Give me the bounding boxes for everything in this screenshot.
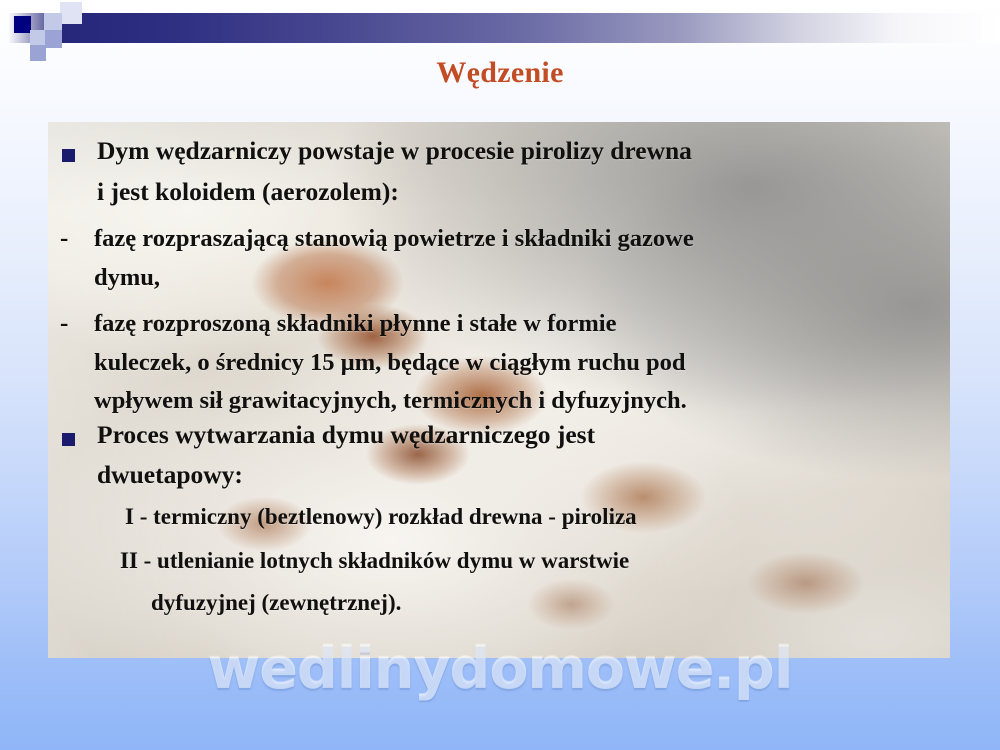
bullet-square-icon-2 (62, 433, 75, 446)
body-line-2: i jest koloidem (aerozolem): (97, 177, 399, 207)
bullet-square-icon-1 (62, 149, 75, 162)
body-line-1: Dym wędzarniczy powstaje w procesie piro… (97, 136, 692, 166)
body-line-6: kuleczek, o średnicy 15 µm, będące w cią… (94, 349, 685, 377)
header-decorative-bar (0, 13, 1000, 43)
header-square-pale-top (60, 2, 82, 24)
page-title: Wędzenie (0, 56, 1000, 90)
body-line-11: II - utlenianie lotnych składników dymu … (120, 548, 629, 574)
header-square-light-b (30, 30, 45, 45)
body-line-12: dyfuzyjnej (zewnętrznej). (151, 590, 401, 616)
slide: Wędzenie Dym wędzarniczy powstaje w proc… (0, 0, 1000, 750)
header-square-mid-a (44, 30, 62, 48)
body-line-10: I - termiczny (beztlenowy) rozkład drewn… (125, 504, 637, 530)
slide-body-text: Dym wędzarniczy powstaje w procesie piro… (48, 122, 950, 658)
header-square-light-a (44, 13, 62, 31)
content-photo-panel: Dym wędzarniczy powstaje w procesie piro… (48, 122, 950, 658)
body-line-3: fazę rozpraszającą stanowią powietrze i … (94, 225, 694, 253)
dash-marker-2: - (60, 310, 68, 338)
body-line-5: fazę rozproszoną składniki płynne i stał… (94, 310, 616, 338)
dash-marker-1: - (60, 225, 68, 253)
body-line-8: Proces wytwarzania dymu wędzarniczego je… (97, 420, 595, 450)
body-line-7: wpływem sił grawitacyjnych, termicznych … (94, 387, 687, 415)
header-square-navy (14, 16, 31, 33)
body-line-4: dymu, (94, 264, 160, 292)
body-line-9: dwuetapowy: (97, 460, 243, 490)
